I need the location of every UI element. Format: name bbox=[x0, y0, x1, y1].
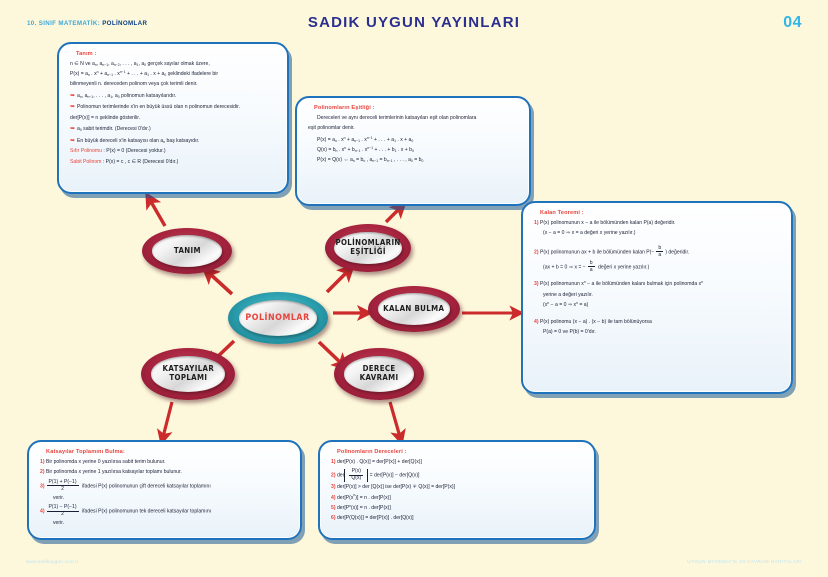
arrow-derece-to-card bbox=[390, 402, 400, 437]
tanim-bullet-2: ➥Polinomun terimlerinde x'in en büyük üs… bbox=[70, 103, 278, 112]
t: , a bbox=[108, 61, 114, 67]
t: P(x) polinomunun ax + b ile bölümünden k… bbox=[540, 249, 654, 255]
t: 1) bbox=[534, 220, 539, 226]
t: Q(x) = b bbox=[317, 147, 336, 153]
t: . x + a bbox=[149, 71, 164, 77]
t: 0 bbox=[411, 159, 413, 163]
t: + . . . + a bbox=[373, 137, 395, 143]
t: 3) bbox=[534, 281, 539, 287]
t: n bbox=[701, 280, 703, 284]
t: − a ile bölümünden kalanı bulmak için po… bbox=[586, 281, 701, 287]
t: 0 bbox=[411, 139, 413, 143]
t: n−1 bbox=[387, 159, 393, 163]
t: n−1 bbox=[87, 95, 93, 99]
t: . x bbox=[360, 137, 367, 143]
tanim-bullet-1: ➥an, an−1, . . . , a1, a0 polinomun kats… bbox=[70, 92, 278, 101]
label-line-1: POLİNOMLARIN bbox=[335, 238, 400, 247]
t: 1 bbox=[147, 73, 149, 77]
t: + b bbox=[346, 147, 355, 153]
denominator: 2 bbox=[47, 512, 79, 518]
map-node-label: DERECE KAVRAMI bbox=[360, 365, 399, 383]
t: 2) bbox=[534, 249, 539, 255]
t: . x bbox=[337, 137, 344, 143]
absolute-value-bars: P(x)Q(x) bbox=[344, 469, 368, 481]
t: 3) bbox=[40, 483, 45, 489]
fraction-p-over-q: P(x)Q(x) bbox=[349, 469, 363, 481]
t: . x bbox=[113, 71, 120, 77]
t: n−1 bbox=[367, 136, 373, 140]
label-line-2: EŞİTLİĞİ bbox=[350, 247, 386, 256]
t: , . . . , a bbox=[93, 93, 110, 99]
t: 4) bbox=[534, 319, 539, 325]
t: 0 bbox=[164, 73, 166, 77]
derece-item-3: 3) der[P(x)] > der [Q(x)] ise der[P(x) ∓… bbox=[331, 484, 585, 492]
t: 4) bbox=[331, 495, 336, 501]
t: n bbox=[335, 139, 337, 143]
arrow-center-to-tanim bbox=[209, 273, 232, 294]
arrow-bullet-icon: ➥ bbox=[70, 126, 75, 132]
arrow-bullet-icon: ➥ bbox=[70, 104, 75, 110]
page-title: SADIK UYGUN YAYINLARI bbox=[0, 14, 828, 31]
arrow-katsayilar-to-card bbox=[163, 402, 172, 437]
t: : P(x) = 0 (Derecesi yoktur.) bbox=[102, 148, 166, 154]
t: = a) bbox=[578, 302, 588, 308]
esitlik-line-2: eşit polinomlar denir. bbox=[308, 125, 520, 133]
card-title: Polinomların Dereceleri : bbox=[337, 449, 585, 455]
t: n−2 bbox=[114, 63, 120, 67]
t: der[P(Q(x))] = der[P(x)] . der[Q(x)] bbox=[337, 515, 414, 521]
map-node-label: KATSAYILAR TOPLAMI bbox=[162, 365, 214, 383]
t: Sıfır Polinomu bbox=[70, 148, 102, 154]
arrow-bullet-icon: ➥ bbox=[70, 93, 75, 99]
t: P(x) = a bbox=[70, 71, 88, 77]
t: P(x) polinomunun x bbox=[540, 281, 584, 287]
t: . x + a bbox=[396, 137, 411, 143]
esitlik-formula-eq: P(x) = Q(x) ⇔ an = bn , an−1 = bn−1 , . … bbox=[317, 157, 520, 165]
t: der[P(x bbox=[337, 495, 353, 501]
page-number: 04 bbox=[783, 14, 802, 32]
t: P(x) = a bbox=[317, 137, 335, 143]
katsayi-item-3: 3)P(1) + P(−1)2 ifadesi P(x) polinomunun… bbox=[40, 480, 291, 492]
t: Polinomun terimlerinde x'in en büyük üss… bbox=[77, 104, 240, 110]
map-node-katsayilar-toplami[interactable]: KATSAYILAR TOPLAMI bbox=[141, 348, 235, 400]
label-line-2: KAVRAMI bbox=[360, 373, 399, 382]
tanim-bullet-4: ➥En büyük dereceli x'in katsayısı olan a… bbox=[70, 137, 278, 146]
tanim-line-1: n ∈ N ve an, an−1, an−2, . . . , a1, a0 … bbox=[70, 61, 278, 69]
node-inner: TANIM bbox=[152, 235, 222, 266]
node-inner: KALAN BULMA bbox=[378, 293, 450, 324]
kalan-item-1-note: (x − a = 0 ⇒ x = a değeri x yerine yazıl… bbox=[543, 230, 782, 238]
card-title: Kalan Teoremi : bbox=[540, 210, 782, 216]
t: 1 bbox=[110, 95, 112, 99]
t: 0 bbox=[144, 63, 146, 67]
t: , a bbox=[112, 93, 118, 99]
derece-item-2: 2) derP(x)Q(x) = der[P(x)] − der[Q(x)] bbox=[331, 469, 585, 481]
t: n bbox=[547, 301, 549, 305]
t: . x + b bbox=[397, 147, 412, 153]
label-line-2: TOPLAMI bbox=[169, 373, 207, 382]
t: − a = 0 ⇒ x bbox=[549, 302, 576, 308]
t: Bir polinomda x yerine 0 yazılırsa sabit… bbox=[46, 459, 165, 465]
node-inner: KATSAYILAR TOPLAMI bbox=[151, 356, 224, 391]
t: + a bbox=[346, 137, 355, 143]
label-line-1: DERECE bbox=[362, 364, 395, 373]
kalan-item-3-cont: yerine a değeri yazılır. bbox=[543, 292, 782, 300]
kalan-item-2-note: (ax + b = 0 ⇒ x = −ba değeri x yerine ya… bbox=[543, 261, 782, 273]
label-line-1: KATSAYILAR bbox=[162, 364, 214, 373]
t: 0 bbox=[412, 149, 414, 153]
card-kalan-teoremi: Kalan Teoremi : 1) P(x) polinomunun x − … bbox=[521, 201, 793, 394]
t: n bbox=[576, 301, 578, 305]
t: Sabit Polinom bbox=[70, 159, 101, 165]
card-katsayilar-toplamini-bulma: Katsayılar Toplamını Bulma: 1) Bir polin… bbox=[27, 440, 302, 540]
t: , . . . , a bbox=[393, 157, 411, 163]
kalan-item-3: 3) P(x) polinomunun xn − a ile bölümünde… bbox=[534, 281, 782, 289]
katsayi-item-4: 4)P(1) − P(−1)2 ifadesi P(x) polinomunun… bbox=[40, 505, 291, 517]
fraction-even-coeff: P(1) + P(−1)2 bbox=[47, 480, 79, 492]
t: n bbox=[349, 504, 351, 508]
t: = der[P(x)] − der[Q(x)] bbox=[368, 473, 419, 479]
t: + a bbox=[99, 71, 108, 77]
t: n bbox=[95, 63, 97, 67]
tanim-line-2: P(x) = an . xn + an−1 . xn−1 + . . . + a… bbox=[70, 71, 278, 79]
katsayi-item-1: 1) Bir polinomda x yerine 0 yazılırsa sa… bbox=[40, 459, 291, 467]
derece-item-1: 1) der[P(x) . Q(x)] = der[P(x)] + der[Q(… bbox=[331, 459, 585, 467]
node-inner: POLİNOMLARIN EŞİTLİĞİ bbox=[334, 232, 401, 265]
t: ) değeridir. bbox=[665, 249, 689, 255]
katsayi-item-2: 2) Bir polinomda x yerine 1 yazılırsa ka… bbox=[40, 469, 291, 477]
t: + . . . + b bbox=[373, 147, 395, 153]
map-node-kalan-bulma[interactable]: KALAN BULMA bbox=[368, 286, 460, 332]
t: 6) bbox=[331, 515, 336, 521]
t: n bbox=[88, 73, 90, 77]
t: )] = n . der[P(x)] bbox=[355, 495, 391, 501]
kalan-item-4: 4) P(x) polinomu (x − a) . (x − b) ile t… bbox=[534, 319, 782, 327]
tanim-line-3: bilinmeyenli n. dereceden polinom veya ç… bbox=[70, 81, 278, 89]
map-node-label: KALAN BULMA bbox=[383, 305, 444, 314]
t: ifadesi P(x) polinomunun çift dereceli k… bbox=[81, 483, 211, 489]
t: P(x) polinomu (x − a) . (x − b) ile tam … bbox=[540, 319, 652, 325]
card-tanim: Tanım : n ∈ N ve an, an−1, an−2, . . . ,… bbox=[57, 42, 289, 194]
t: En büyük dereceli x'in katsayısı olan a bbox=[77, 138, 163, 144]
t: der[P(x)] > der [Q(x)] ise der[P(x) ∓ Q(… bbox=[337, 484, 455, 490]
t: 4) bbox=[40, 509, 45, 515]
t: n−1 bbox=[102, 63, 108, 67]
t: 0 bbox=[118, 95, 120, 99]
esitlik-formula-q: Q(x) = bn . xn + bn−1 . xn−1 + . . . + b… bbox=[317, 147, 520, 155]
t: 0 bbox=[421, 159, 423, 163]
t: n bbox=[97, 70, 99, 74]
t: n bbox=[353, 493, 355, 497]
map-node-derece-kavrami[interactable]: DERECE KAVRAMI bbox=[334, 348, 424, 400]
denominator: a bbox=[656, 252, 663, 258]
t: n−1 bbox=[120, 70, 126, 74]
map-node-label: POLİNOMLAR bbox=[246, 313, 310, 323]
t: , . . . , a bbox=[120, 61, 137, 67]
derece-item-5: 5) der[Pn(x)] = n . der[P(x)] bbox=[331, 505, 585, 513]
card-title: Katsayılar Toplamını Bulma: bbox=[46, 449, 291, 455]
fraction-b-over-a: ba bbox=[588, 261, 595, 273]
tanim-bullet-2-cont: der[P(x)] = n şeklinde gösterilir. bbox=[70, 115, 278, 123]
t: gerçek sayılar olmak üzere, bbox=[146, 61, 210, 67]
footer-website[interactable]: www.sadikuygun.com.tr bbox=[26, 559, 78, 564]
t: = b bbox=[378, 157, 387, 163]
map-node-label: TANIM bbox=[173, 247, 200, 256]
fraction-b-over-a: ba bbox=[656, 246, 663, 258]
kalan-item-3-note: (xn − a = 0 ⇒ xn = a) bbox=[543, 302, 782, 310]
t: 2) bbox=[40, 469, 45, 475]
t: + . . . + a bbox=[126, 71, 148, 77]
katsayi-item-3-cont: verir. bbox=[53, 495, 291, 503]
t: 3) bbox=[331, 484, 336, 490]
t: n bbox=[353, 159, 355, 163]
t: der bbox=[337, 473, 344, 479]
t: sabit terimdir. (Derecesi 0'dır.) bbox=[82, 126, 151, 132]
map-node-polinomlarin-esitligi[interactable]: POLİNOMLARIN EŞİTLİĞİ bbox=[325, 224, 411, 272]
t: . x bbox=[90, 71, 97, 77]
t: n−1 bbox=[372, 159, 378, 163]
arrow-esitlik-to-card bbox=[386, 208, 400, 222]
t: (x)] = n . der[P(x)] bbox=[351, 505, 391, 511]
kalan-item-2: 2) P(x) polinomunun ax + b ile bölümünde… bbox=[534, 246, 782, 258]
t: 1) bbox=[331, 459, 336, 465]
card-polinomlarin-dereceleri: Polinomların Dereceleri : 1) der[P(x) . … bbox=[318, 440, 596, 540]
kalan-item-4-note: P(a) = 0 ve P(b) = 0'dır. bbox=[543, 329, 782, 337]
tanim-bullet-3: ➥a0 sabit terimdir. (Derecesi 0'dır.) bbox=[70, 125, 278, 134]
t: n bbox=[80, 95, 82, 99]
t: Bir polinomda x yerine 1 yazılırsa katsa… bbox=[46, 469, 182, 475]
t: polinomun katsayılarıdır. bbox=[120, 93, 177, 99]
t: n bbox=[584, 280, 586, 284]
t: 1) bbox=[40, 459, 45, 465]
esitlik-line-1: Dereceleri ve aynı dereceli terimlerinin… bbox=[317, 115, 520, 123]
concept-map-page: 10. SINIF MATEMATİK: POLİNOMLAR SADIK UY… bbox=[0, 0, 828, 577]
t: n bbox=[344, 146, 346, 150]
footer-series: UYGUN MATEMATİK 10 KAVRAM HARİTALARI bbox=[687, 559, 802, 564]
t: der[P(x) . Q(x)] = der[P(x)] + der[Q(x)] bbox=[337, 459, 422, 465]
t: P(x) = Q(x) ⇔ a bbox=[317, 157, 353, 163]
t: 1 bbox=[394, 139, 396, 143]
derece-item-4: 4) der[P(xn)] = n . der[P(x)] bbox=[331, 495, 585, 503]
t: 1 bbox=[395, 149, 397, 153]
card-title: Tanım : bbox=[76, 51, 278, 57]
t: 5) bbox=[331, 505, 336, 511]
t: n−1 bbox=[355, 149, 361, 153]
t: 2) bbox=[331, 473, 336, 479]
t: ifadesi P(x) polinomunun tek dereceli ka… bbox=[81, 509, 212, 515]
map-node-label: POLİNOMLARIN EŞİTLİĞİ bbox=[335, 239, 400, 257]
map-node-polinomlar[interactable]: POLİNOMLAR bbox=[228, 292, 328, 344]
derece-item-6: 6) der[P(Q(x))] = der[P(x)] . der[Q(x)] bbox=[331, 515, 585, 523]
tanim-sabit-polinom: Sabit Polinom : P(x) = c , c ∈ R (Derece… bbox=[70, 159, 278, 167]
t: (ax + b = 0 ⇒ x = − bbox=[543, 265, 586, 271]
card-title: Polinomların Eşitliği : bbox=[314, 105, 520, 111]
fraction-odd-coeff: P(1) − P(−1)2 bbox=[47, 505, 79, 517]
card-polinomlarin-esitligi: Polinomların Eşitliği : Dereceleri ve ay… bbox=[295, 96, 531, 206]
node-inner: DERECE KAVRAMI bbox=[344, 356, 414, 391]
denominator: 2 bbox=[47, 486, 79, 492]
tanim-sifir-polinomu: Sıfır Polinomu : P(x) = 0 (Derecesi yokt… bbox=[70, 148, 278, 156]
t: der[P bbox=[337, 505, 349, 511]
arrow-center-to-esitlik bbox=[327, 271, 348, 292]
t: n−1 bbox=[107, 73, 113, 77]
t: n−1 bbox=[354, 139, 360, 143]
t: P(x) polinomunun x − a ile bölümünden ka… bbox=[540, 220, 676, 226]
t: 0 bbox=[80, 128, 82, 132]
t: n bbox=[344, 136, 346, 140]
t: n−1 bbox=[367, 146, 373, 150]
t: şeklindeki ifadelere bir bbox=[166, 71, 218, 77]
arrow-bullet-icon: ➥ bbox=[70, 138, 75, 144]
node-inner: POLİNOMLAR bbox=[239, 300, 317, 335]
t: : P(x) = c , c ∈ R (Derecesi 0'dır.) bbox=[101, 159, 178, 165]
t: n bbox=[163, 140, 165, 144]
esitlik-formula-p: P(x) = an . xn + an−1 . xn−1 + . . . + a… bbox=[317, 137, 520, 145]
map-node-tanim[interactable]: TANIM bbox=[142, 228, 232, 274]
t: baş katsayıdır. bbox=[165, 138, 199, 144]
kalan-item-1: 1) P(x) polinomunun x − a ile bölümünden… bbox=[534, 220, 782, 228]
t: n bbox=[363, 159, 365, 163]
denominator: Q(x) bbox=[349, 476, 363, 482]
t: değeri x yerine yazılır.) bbox=[597, 265, 650, 271]
denominator: a bbox=[588, 267, 595, 273]
arrow-tanim-to-card bbox=[150, 200, 165, 226]
katsayi-item-4-cont: verir. bbox=[53, 520, 291, 528]
t: n ∈ N ve a bbox=[70, 61, 95, 67]
